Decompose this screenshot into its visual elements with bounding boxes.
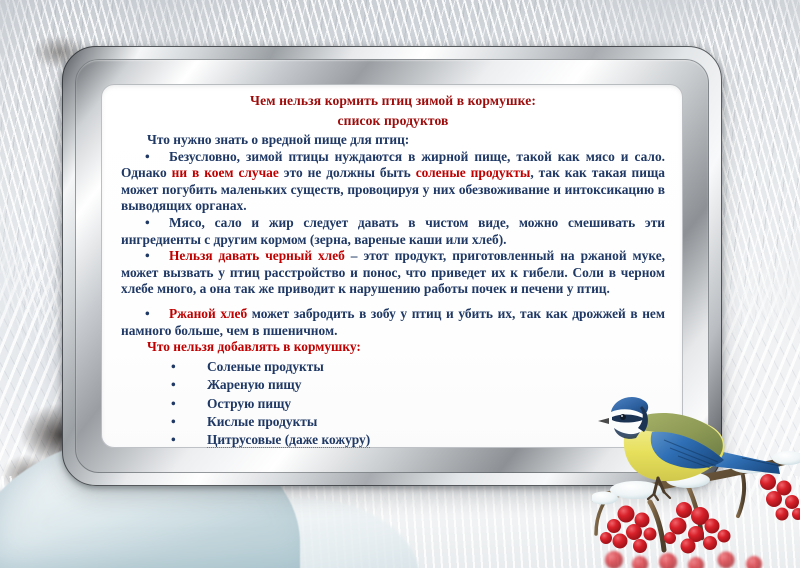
paragraph-run-accent: ни в коем случае: [172, 165, 279, 180]
paragraph-run-accent: соленые продукты: [416, 165, 531, 180]
paragraph-run: это не должны быть: [279, 165, 416, 180]
subheading-forbidden: Что нельзя добавлять в кормушку:: [121, 339, 665, 356]
bullet-glyph: •: [145, 149, 150, 166]
list-item: •Кислые продукты: [121, 413, 665, 431]
page-title-line-2: список продуктов: [121, 112, 665, 129]
document-body: Чем нельзя кормить птиц зимой в кормушке…: [121, 92, 665, 442]
paragraph-run: Мясо, сало и жир следует давать в чистом…: [121, 215, 665, 247]
bullet-glyph: •: [171, 395, 176, 413]
page-title-line-1: Чем нельзя кормить птиц зимой в кормушке…: [121, 92, 665, 109]
list-item-label: Кислые продукты: [207, 414, 317, 429]
screenshot-canvas: Чем нельзя кормить птиц зимой в кормушке…: [0, 0, 800, 568]
blue-tit-on-rowan-branch-artwork: [592, 386, 800, 568]
bullet-glyph: •: [145, 306, 150, 323]
paragraph-run-accent: Нельзя давать черный хлеб: [169, 248, 345, 263]
bullet-glyph: •: [171, 376, 176, 394]
bullet-glyph: •: [145, 248, 150, 265]
paragraph-black-bread: • Нельзя давать черный хлеб – этот проду…: [121, 248, 665, 298]
list-item-label: Острую пищу: [207, 396, 291, 411]
lead-paragraph: Что нужно знать о вредной пище для птиц:: [121, 132, 665, 149]
paragraph-run-accent: Ржаной хлеб: [169, 306, 247, 321]
list-item: •Соленые продукты: [121, 358, 665, 376]
paragraph-meat-lard-fat: • Мясо, сало и жир следует давать в чист…: [121, 215, 665, 248]
paragraph-list: • Безусловно, зимой птицы нуждаются в жи…: [121, 149, 665, 340]
bullet-glyph: •: [171, 431, 176, 448]
bullet-glyph: •: [171, 358, 176, 376]
list-item-label: Соленые продукты: [207, 359, 324, 374]
list-item: •Острую пищу: [121, 395, 665, 413]
bullet-glyph: •: [145, 215, 150, 232]
bullet-glyph: •: [171, 413, 176, 431]
list-item: •Жареную пищу: [121, 376, 665, 394]
list-item-label: Цитрусовые (даже кожуру): [207, 432, 370, 448]
list-item-label: Жареную пищу: [207, 377, 301, 392]
paragraph-fat-food: • Безусловно, зимой птицы нуждаются в жи…: [121, 149, 665, 215]
list-item: •Цитрусовые (даже кожуру): [121, 431, 665, 448]
paragraph-rye-bread: • Ржаной хлеб может забродить в зобу у п…: [121, 306, 665, 339]
forbidden-items-list: •Соленые продукты •Жареную пищу •Острую …: [121, 358, 665, 448]
